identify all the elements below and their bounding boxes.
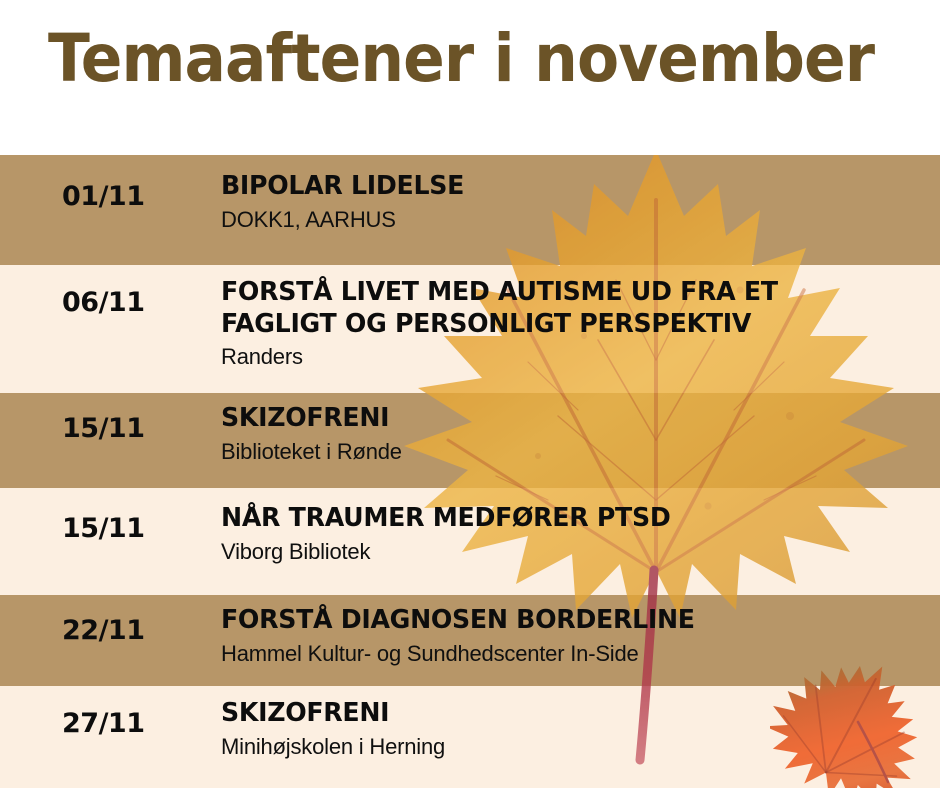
poster-header: Temaaftener i november: [0, 0, 940, 155]
page-title: Temaaftener i november: [48, 24, 874, 93]
schedule-rows: 01/1106/1115/1115/1122/1127/11: [0, 155, 940, 788]
event-date: 22/11: [62, 615, 145, 646]
schedule-row-inner: 15/11: [0, 393, 940, 488]
schedule-row: 15/11: [0, 488, 940, 595]
event-date: 27/11: [62, 708, 145, 739]
schedule-row-inner: 27/11: [0, 686, 940, 788]
schedule-row: 15/11: [0, 393, 940, 488]
event-date: 01/11: [62, 181, 145, 212]
schedule-row-inner: 01/11: [0, 155, 940, 265]
schedule-row-inner: 06/11: [0, 265, 940, 393]
event-date: 06/11: [62, 287, 145, 318]
schedule-row-inner: 15/11: [0, 488, 940, 595]
poster-canvas: 01/1106/1115/1115/1122/1127/11: [0, 0, 940, 788]
schedule-row-inner: 22/11: [0, 595, 940, 686]
schedule-row: 27/11: [0, 686, 940, 788]
event-date: 15/11: [62, 513, 145, 544]
schedule-row: 22/11: [0, 595, 940, 686]
event-date: 15/11: [62, 413, 145, 444]
schedule-row: 01/11: [0, 155, 940, 265]
schedule-row: 06/11: [0, 265, 940, 393]
